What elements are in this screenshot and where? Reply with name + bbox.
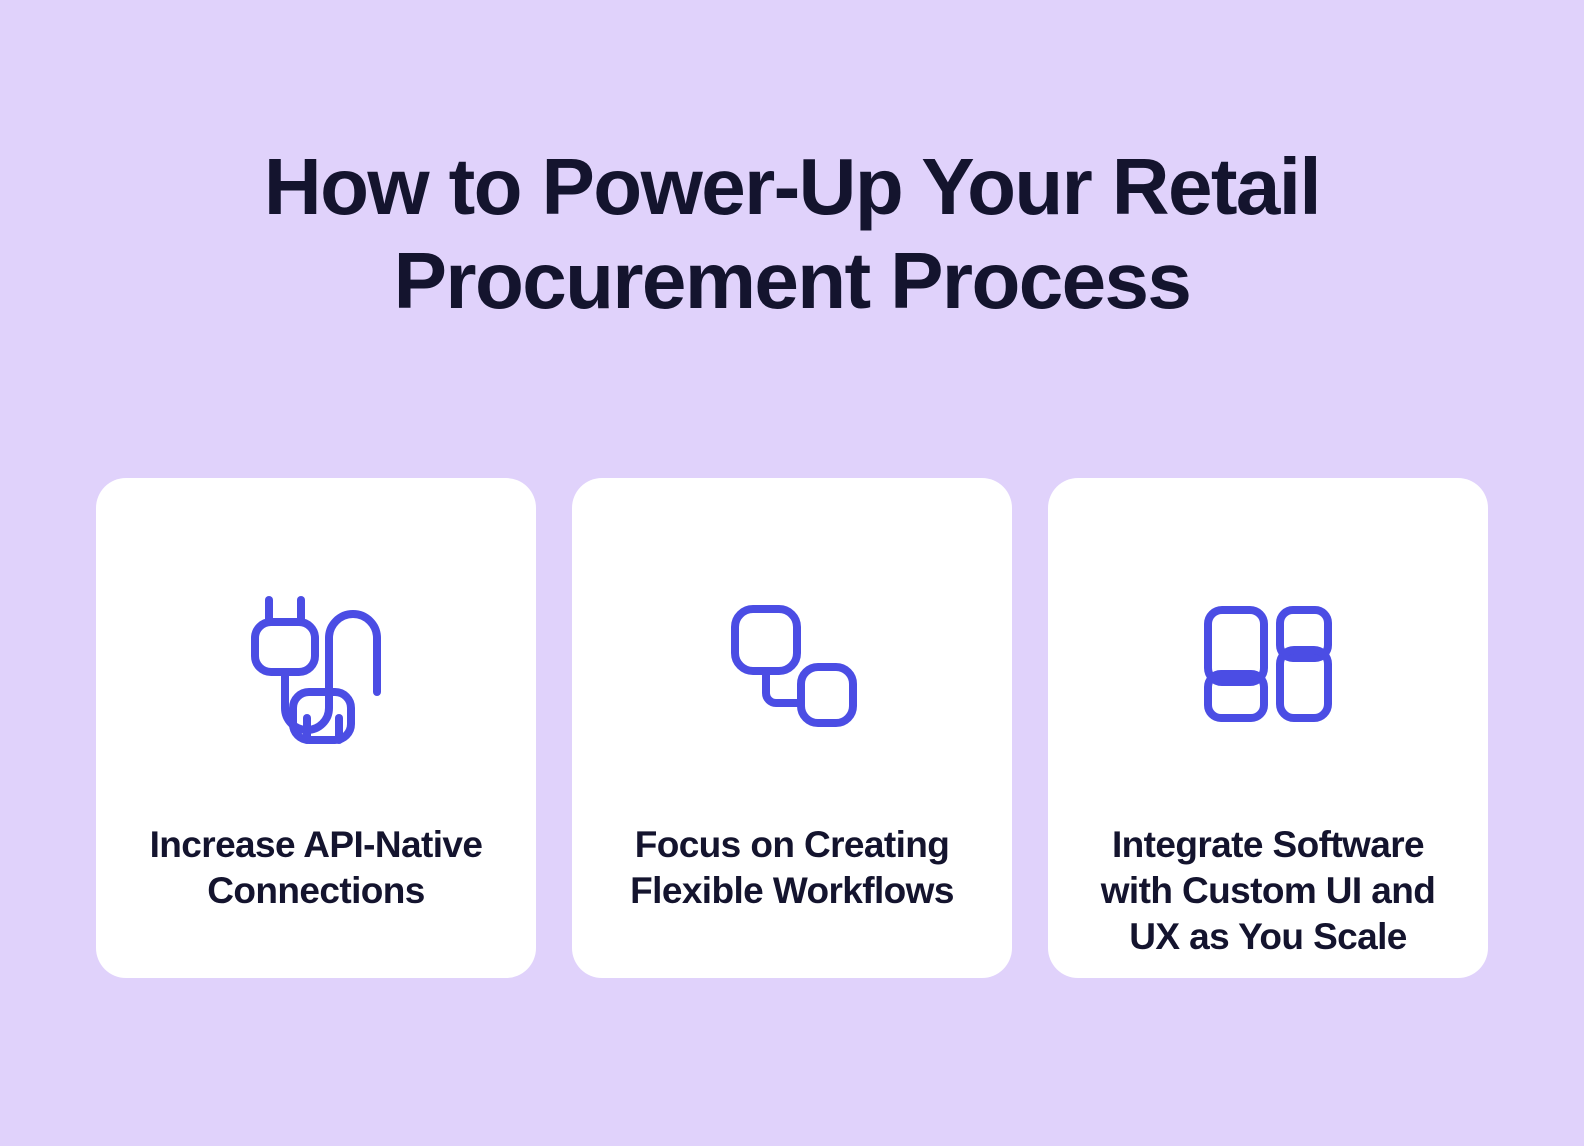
feature-card-custom-ui-ux: Integrate Software with Custom UI and UX… [1048,478,1488,978]
page-title-line-2: Procurement Process [0,234,1584,328]
page-title: How to Power-Up Your Retail Procurement … [0,140,1584,328]
feature-card-title-line-2: with Custom UI and [1101,870,1436,911]
feature-card-title-line-3: UX as You Scale [1129,916,1407,957]
page-title-line-1: How to Power-Up Your Retail [0,140,1584,234]
feature-card-title: Focus on Creating Flexible Workflows [602,822,982,914]
infographic-poster: How to Power-Up Your Retail Procurement … [0,0,1584,1146]
feature-card-title-line-1: Integrate Software [1112,824,1424,865]
feature-card-title-line-1: Focus on Creating [635,824,950,865]
feature-card-title: Increase API-Native Connections [126,822,506,914]
feature-card-title-line-2: Connections [207,870,424,911]
dashboard-grid-icon [1193,596,1343,736]
feature-card-list: Increase API-Native Connections Focus on… [96,478,1488,978]
feature-card-title-line-2: Flexible Workflows [630,870,954,911]
plug-connection-icon [241,596,391,736]
feature-card-api-native-connections: Increase API-Native Connections [96,478,536,978]
feature-card-title: Integrate Software with Custom UI and UX… [1078,822,1458,960]
feature-card-flexible-workflows: Focus on Creating Flexible Workflows [572,478,1012,978]
workflow-nodes-icon [717,596,867,736]
feature-card-title-line-1: Increase API-Native [150,824,483,865]
